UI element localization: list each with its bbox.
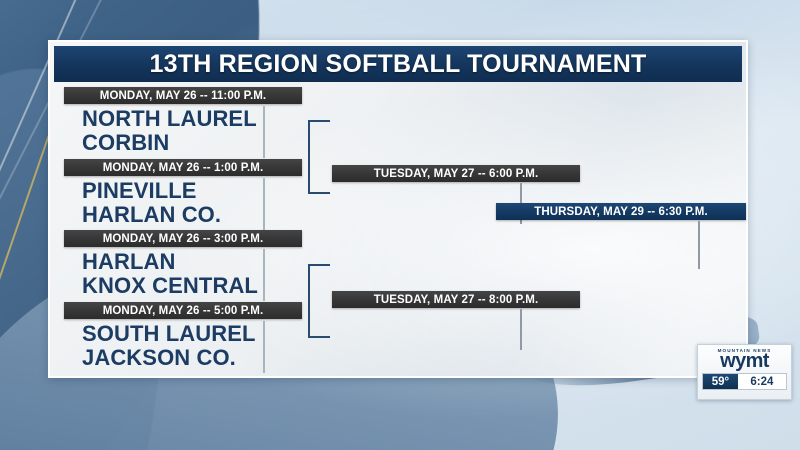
bracket-separator-qf4 — [263, 321, 265, 373]
bracket-separator-qf2 — [263, 178, 265, 230]
game-time-bar-qf2: MONDAY, MAY 26 -- 1:00 P.M. — [64, 159, 302, 176]
bracket-line-sf2-to-final — [520, 309, 522, 350]
station-logo: MOUNTAIN NEWS wymt — [702, 348, 787, 371]
bracket-connector-bottom — [308, 264, 330, 338]
temperature-readout: 59° — [703, 374, 738, 389]
station-info-strip: 59° 6:24 — [702, 373, 787, 390]
team-name-qf4-top: SOUTH LAUREL — [82, 323, 256, 345]
station-callsign: wymt — [702, 352, 787, 371]
game-time-bar-qf1: MONDAY, MAY 26 -- 11:00 P.M. — [64, 87, 302, 104]
game-time-bar-qf4: MONDAY, MAY 26 -- 5:00 P.M. — [64, 302, 302, 319]
game-time-bar-final: THURSDAY, MAY 29 -- 6:30 P.M. — [496, 203, 746, 220]
team-name-qf2-top: PINEVILLE — [82, 180, 197, 202]
team-name-qf2-bottom: HARLAN CO. — [82, 204, 221, 226]
team-name-qf4-bottom: JACKSON CO. — [82, 347, 236, 369]
team-name-qf3-bottom: KNOX CENTRAL — [82, 275, 258, 297]
bracket-title-bar: 13TH REGION SOFTBALL TOURNAMENT — [54, 46, 742, 82]
game-time-bar-qf3: MONDAY, MAY 26 -- 3:00 P.M. — [64, 230, 302, 247]
game-time-bar-sf1: TUESDAY, MAY 27 -- 6:00 P.M. — [332, 165, 580, 182]
bracket-connector-top — [308, 120, 330, 194]
game-time-bar-sf2: TUESDAY, MAY 27 -- 8:00 P.M. — [332, 291, 580, 308]
station-bug: MOUNTAIN NEWS wymt 59° 6:24 — [697, 344, 792, 400]
page-title: 13TH REGION SOFTBALL TOURNAMENT — [150, 50, 647, 79]
bracket-separator-qf3 — [263, 249, 265, 301]
team-name-qf1-top: NORTH LAUREL — [82, 108, 257, 130]
bracket-line-final-stem — [698, 221, 700, 269]
bracket-separator-qf1 — [263, 106, 265, 158]
team-name-qf3-top: HARLAN — [82, 251, 175, 273]
clock-readout: 6:24 — [738, 374, 786, 389]
tournament-bracket-panel: 13TH REGION SOFTBALL TOURNAMENT MONDAY, … — [48, 40, 748, 378]
team-name-qf1-bottom: CORBIN — [82, 132, 169, 154]
